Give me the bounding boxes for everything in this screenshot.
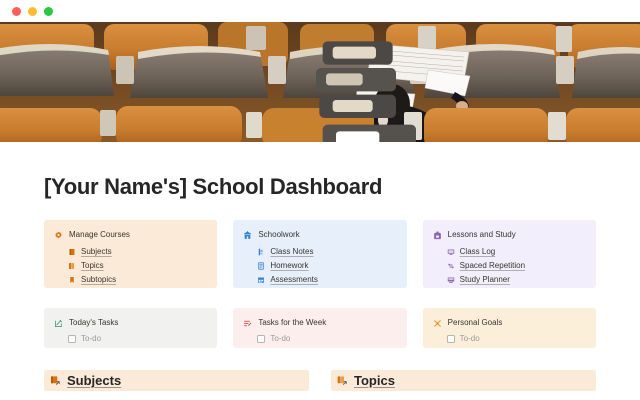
- books-icon: [68, 262, 76, 270]
- todo-checkbox[interactable]: [68, 335, 76, 343]
- task-list-icon: [243, 319, 252, 328]
- card-title: Tasks for the Week: [258, 317, 326, 329]
- notes-icon: [257, 248, 265, 256]
- card-todays-tasks[interactable]: Today's Tasks To-do: [44, 308, 217, 348]
- page-title: [Your Name's] School Dashboard: [44, 142, 596, 200]
- link-subtopics[interactable]: Subtopics: [68, 273, 207, 287]
- minimize-button[interactable]: [28, 7, 37, 16]
- database-title-bar[interactable]: Topics: [331, 370, 596, 391]
- card-header: Schoolwork: [243, 229, 396, 241]
- todo-label: To-do: [460, 334, 480, 343]
- database-title-bar[interactable]: Subjects: [44, 370, 309, 391]
- todo-checkbox[interactable]: [447, 335, 455, 343]
- link-card-row: Manage Courses Subjects Topics: [44, 220, 596, 288]
- link-label: Topics: [81, 259, 104, 273]
- card-lessons-and-study[interactable]: Lessons and Study Class Log Spaced Repet…: [423, 220, 596, 288]
- todo-label: To-do: [81, 334, 101, 343]
- backpack-icon: [433, 231, 442, 240]
- database-title: Subjects: [67, 373, 121, 388]
- card-links: Class Log Spaced Repetition Study Planne…: [433, 245, 586, 287]
- link-label: Assessments: [270, 273, 318, 287]
- zoom-button[interactable]: [44, 7, 53, 16]
- card-schoolwork[interactable]: Schoolwork Class Notes Homework: [233, 220, 406, 288]
- book-link-icon: [50, 375, 61, 386]
- task-card-row: Today's Tasks To-do Tasks for the Week T…: [44, 308, 596, 348]
- card-header: Manage Courses: [54, 229, 207, 241]
- database-row: Subjects Current Subjects: [44, 370, 596, 400]
- school-icon: [243, 231, 252, 240]
- card-tasks-for-the-week[interactable]: Tasks for the Week To-do: [233, 308, 406, 348]
- card-title: Schoolwork: [258, 229, 299, 241]
- link-label: Spaced Repetition: [460, 259, 525, 273]
- card-header: Tasks for the Week: [243, 317, 396, 329]
- todo-item[interactable]: To-do: [54, 334, 207, 343]
- book-icon: [68, 248, 76, 256]
- link-topics[interactable]: Topics: [68, 259, 207, 273]
- card-links: Class Notes Homework Assessments: [243, 245, 396, 287]
- bookmark-icon: [68, 276, 76, 284]
- link-spaced-repetition[interactable]: Spaced Repetition: [447, 259, 586, 273]
- books-link-icon: [337, 375, 348, 386]
- link-homework[interactable]: Homework: [257, 259, 396, 273]
- link-label: Study Planner: [460, 273, 510, 287]
- card-personal-goals[interactable]: Personal Goals To-do: [423, 308, 596, 348]
- link-study-planner[interactable]: Study Planner: [447, 273, 586, 287]
- repeat-icon: [447, 262, 455, 270]
- link-label: Class Notes: [270, 245, 313, 259]
- desktop-icon: [447, 276, 455, 284]
- todo-checkbox[interactable]: [257, 335, 265, 343]
- card-title: Manage Courses: [69, 229, 130, 241]
- window-titlebar: [0, 0, 640, 22]
- database-title: Topics: [354, 373, 395, 388]
- card-title: Personal Goals: [448, 317, 503, 329]
- close-button[interactable]: [12, 7, 21, 16]
- todo-item[interactable]: To-do: [243, 334, 396, 343]
- card-links: Subjects Topics Subtopics: [54, 245, 207, 287]
- card-manage-courses[interactable]: Manage Courses Subjects Topics: [44, 220, 217, 288]
- cover-image[interactable]: [0, 22, 640, 142]
- card-header: Lessons and Study: [433, 229, 586, 241]
- database-subjects: Subjects Current Subjects: [44, 370, 309, 400]
- todo-label: To-do: [270, 334, 290, 343]
- card-title: Today's Tasks: [69, 317, 118, 329]
- calendar-icon: [257, 276, 265, 284]
- page-content: [Your Name's] School Dashboard Manage Co…: [0, 142, 640, 400]
- todo-item[interactable]: To-do: [433, 334, 586, 343]
- link-subjects[interactable]: Subjects: [68, 245, 207, 259]
- homework-icon: [257, 262, 265, 270]
- card-header: Personal Goals: [433, 317, 586, 329]
- link-label: Subtopics: [81, 273, 116, 287]
- monitor-icon: [447, 248, 455, 256]
- link-class-notes[interactable]: Class Notes: [257, 245, 396, 259]
- database-topics: Topics Active Topics: [331, 370, 596, 400]
- link-label: Homework: [270, 259, 308, 273]
- card-header: Today's Tasks: [54, 317, 207, 329]
- link-label: Class Log: [460, 245, 496, 259]
- stacked-books-icon[interactable]: [46, 38, 640, 142]
- link-class-log[interactable]: Class Log: [447, 245, 586, 259]
- card-title: Lessons and Study: [448, 229, 516, 241]
- edit-note-icon: [54, 319, 63, 328]
- goal-icon: [433, 319, 442, 328]
- link-assessments[interactable]: Assessments: [257, 273, 396, 287]
- link-label: Subjects: [81, 245, 112, 259]
- gear-icon: [54, 231, 63, 240]
